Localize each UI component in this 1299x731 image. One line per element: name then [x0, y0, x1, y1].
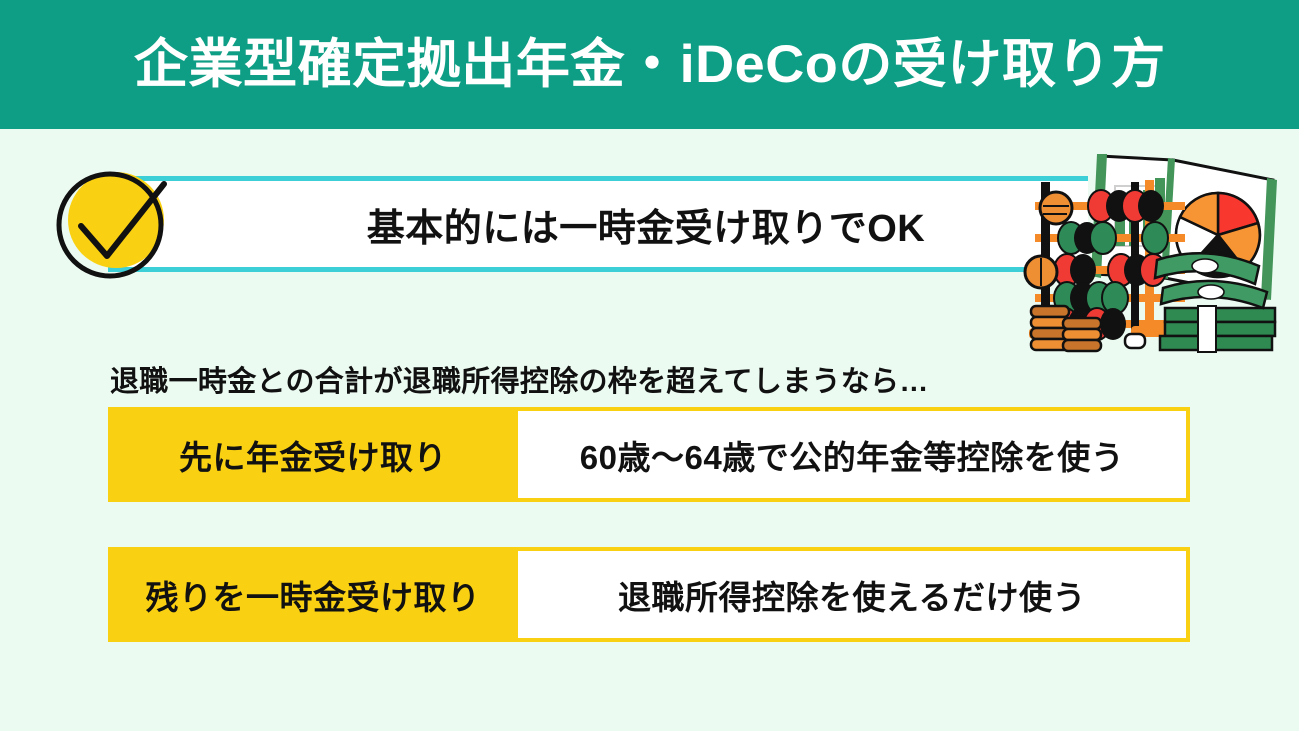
row-label-text: 先に年金受け取り	[179, 431, 447, 479]
sub-lead-text: 退職一時金との合計が退職所得控除の枠を超えてしまうなら…	[110, 358, 929, 400]
row-value-cell: 退職所得控除を使えるだけ使う	[518, 547, 1190, 642]
finance-illustration	[1005, 138, 1299, 353]
row-value-text: 60歳〜64歳で公的年金等控除を使う	[580, 431, 1124, 479]
row-label-cell: 先に年金受け取り	[108, 407, 518, 502]
table-row: 残りを一時金受け取り 退職所得控除を使えるだけ使う	[108, 547, 1190, 642]
check-circle-icon	[52, 168, 176, 282]
table-row: 先に年金受け取り 60歳〜64歳で公的年金等控除を使う	[108, 407, 1190, 502]
page-title: 企業型確定拠出年金・iDeCoの受け取り方	[134, 38, 1166, 91]
row-value-text: 退職所得控除を使えるだけ使う	[618, 571, 1086, 619]
row-label-cell: 残りを一時金受け取り	[108, 547, 518, 642]
key-message-text: 基本的には一時金受け取りでOK	[367, 197, 926, 252]
slide-canvas: 企業型確定拠出年金・iDeCoの受け取り方 基本的には一時金受け取りでOK 退職…	[0, 0, 1299, 731]
key-message-banner: 基本的には一時金受け取りでOK	[108, 176, 1088, 272]
row-label-text: 残りを一時金受け取り	[146, 571, 481, 619]
header-bar: 企業型確定拠出年金・iDeCoの受け取り方	[0, 0, 1299, 129]
row-value-cell: 60歳〜64歳で公的年金等控除を使う	[518, 407, 1190, 502]
